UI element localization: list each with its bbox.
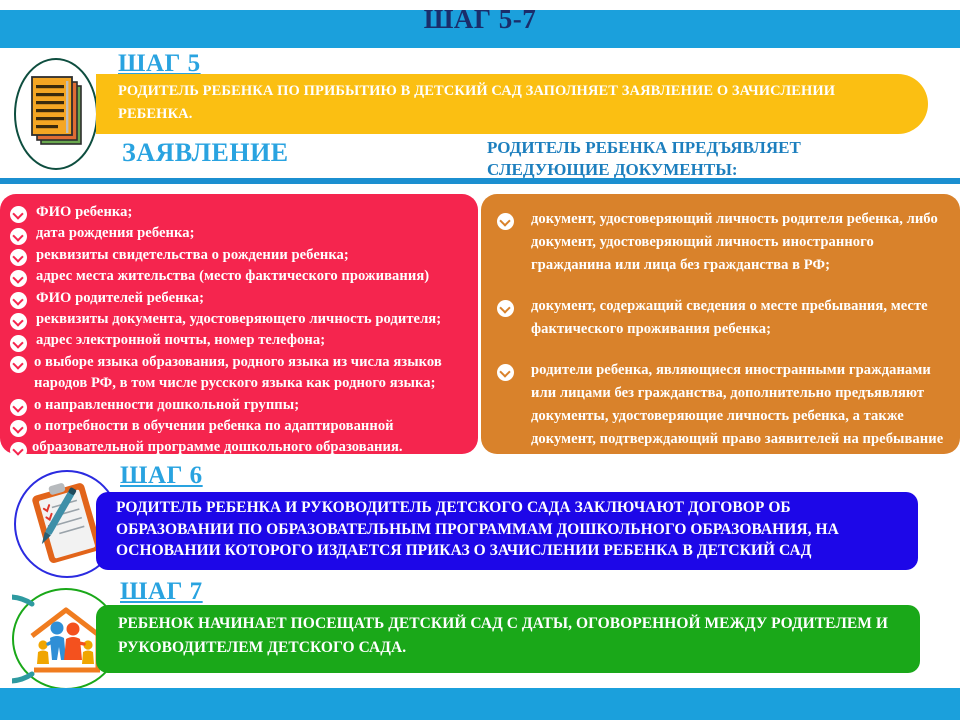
step-7-label: ШАГ 7 bbox=[120, 578, 203, 606]
chevron-down-icon bbox=[10, 247, 27, 268]
chevron-down-icon bbox=[497, 297, 514, 320]
section-divider bbox=[0, 178, 960, 184]
step-7-banner-text: РЕБЕНОК НАЧИНАЕТ ПОСЕЩАТЬ ДЕТСКИЙ САД С … bbox=[118, 612, 918, 660]
chevron-down-icon bbox=[10, 204, 27, 225]
list-item: документ, содержащий сведения о месте пр… bbox=[497, 295, 947, 341]
list-item: адрес места жительства (место фактическо… bbox=[10, 266, 472, 287]
list-item: о потребности в обучении ребенка по адап… bbox=[10, 416, 472, 437]
list-item: образовательной программе дошкольного об… bbox=[10, 437, 472, 458]
chevron-down-icon bbox=[10, 439, 27, 460]
chevron-down-icon bbox=[10, 397, 27, 418]
chevron-down-icon bbox=[10, 290, 27, 311]
list-item: о направленности дошкольной группы; bbox=[10, 395, 472, 416]
chevron-down-icon bbox=[10, 418, 27, 439]
bottom-banner-bar bbox=[0, 688, 960, 720]
list-item: реквизиты свидетельства о рождении ребен… bbox=[10, 245, 472, 266]
step-5-banner: РОДИТЕЛЬ РЕБЕНКА ПО ПРИБЫТИЮ В ДЕТСКИЙ С… bbox=[96, 74, 928, 134]
step-5-banner-text: РОДИТЕЛЬ РЕБЕНКА ПО ПРИБЫТИЮ В ДЕТСКИЙ С… bbox=[118, 80, 908, 126]
list-item: ФИО родителей ребенка; bbox=[10, 288, 472, 309]
application-heading: ЗАЯВЛЕНИЕ bbox=[122, 138, 289, 168]
list-item: дата рождения ребенка; bbox=[10, 223, 472, 244]
chevron-down-icon bbox=[497, 361, 514, 384]
chevron-down-icon bbox=[10, 332, 27, 353]
list-item: документ, удостоверяющий личность родите… bbox=[497, 208, 947, 277]
chevron-down-icon bbox=[10, 225, 27, 246]
required-documents-panel: документ, удостоверяющий личность родите… bbox=[481, 194, 960, 454]
step-6-banner: РОДИТЕЛЬ РЕБЕНКА И РУКОВОДИТЕЛЬ ДЕТСКОГО… bbox=[96, 492, 918, 570]
page-title: ШАГ 5-7 bbox=[0, 2, 960, 36]
application-requirements-panel: ФИО ребенка; дата рождения ребенка; рекв… bbox=[0, 194, 478, 454]
application-requirements-list: ФИО ребенка; дата рождения ребенка; рекв… bbox=[10, 202, 472, 459]
chevron-down-icon bbox=[497, 210, 514, 233]
step-6-banner-text: РОДИТЕЛЬ РЕБЕНКА И РУКОВОДИТЕЛЬ ДЕТСКОГО… bbox=[116, 497, 906, 562]
document-stack-icon bbox=[14, 58, 98, 170]
list-item: ФИО ребенка; bbox=[10, 202, 472, 223]
list-item: родители ребенка, являющиеся иностранным… bbox=[497, 359, 947, 474]
list-item: реквизиты документа, удостоверяющего лич… bbox=[10, 309, 472, 330]
list-item: о выборе языка образования, родного язык… bbox=[10, 352, 472, 395]
chevron-down-icon bbox=[10, 354, 27, 375]
step-7-banner: РЕБЕНОК НАЧИНАЕТ ПОСЕЩАТЬ ДЕТСКИЙ САД С … bbox=[96, 605, 920, 673]
required-documents-list: документ, удостоверяющий личность родите… bbox=[497, 208, 947, 492]
step-6-label: ШАГ 6 bbox=[120, 462, 203, 490]
documents-heading: РОДИТЕЛЬ РЕБЕНКА ПРЕДЪЯВЛЯЕТ СЛЕДУЮЩИЕ Д… bbox=[487, 137, 907, 181]
chevron-down-icon bbox=[10, 311, 27, 332]
list-item: адрес электронной почты, номер телефона; bbox=[10, 330, 472, 351]
chevron-down-icon bbox=[10, 268, 27, 289]
slide-canvas: ШАГ 5-7 ШАГ 5 РОДИТЕЛЬ РЕБЕНКА ПО ПРИБЫТ… bbox=[0, 0, 960, 720]
